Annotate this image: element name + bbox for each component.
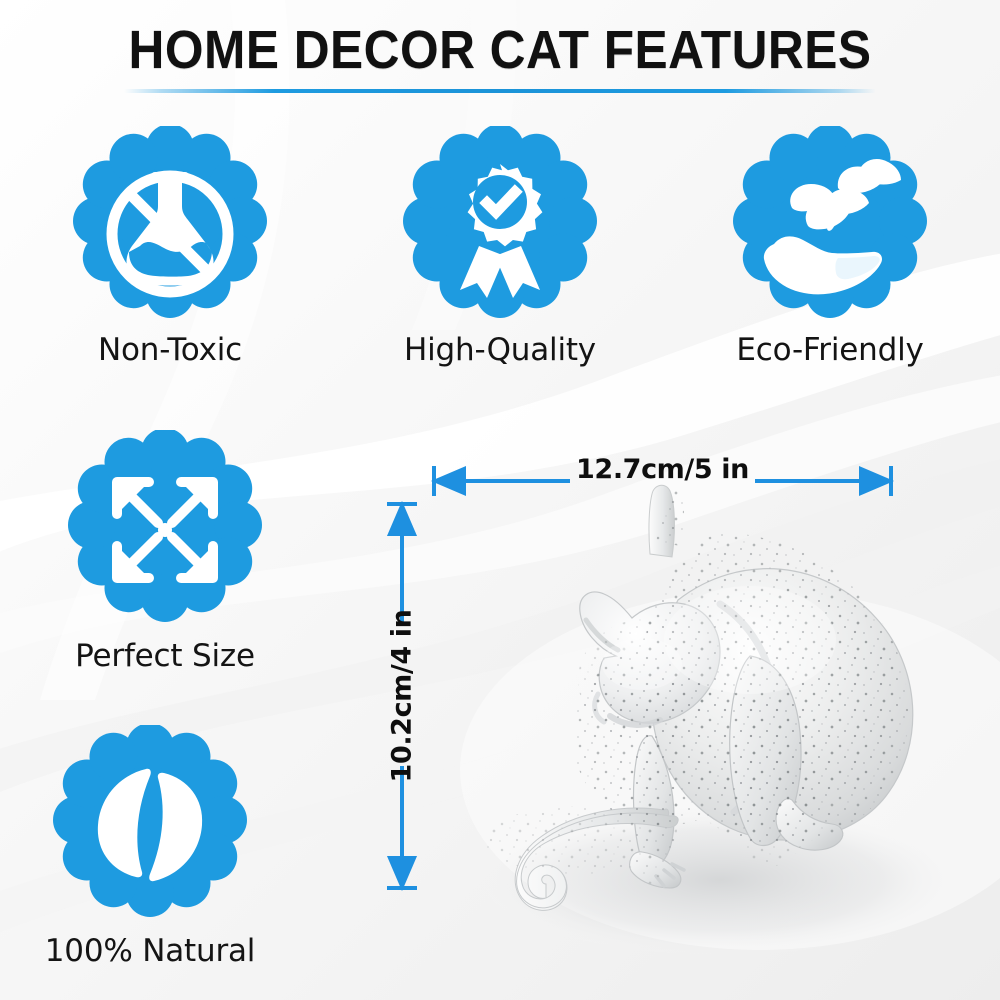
feature-item-100-natural[interactable]: 100% Natural [25, 725, 275, 969]
dimension-height-label: 10.2cm/4 in [387, 610, 418, 783]
feature-label: Eco-Friendly [705, 332, 955, 368]
expand-arrows-icon [65, 430, 265, 630]
no-toxic-flask-icon [70, 126, 270, 326]
feature-label: 100% Natural [25, 933, 275, 969]
page-title-block: HOME DECOR CAT FEATURES [0, 22, 1000, 93]
product-photo-cat-statue [420, 480, 1000, 1000]
product-feature-infographic: HOME DECOR CAT FEATURES [0, 0, 1000, 1000]
feature-label: Perfect Size [40, 638, 290, 674]
two-leaves-icon [50, 725, 250, 925]
page-title: HOME DECOR CAT FEATURES [40, 22, 960, 78]
feature-label: Non-Toxic [45, 332, 295, 368]
hand-holding-leaf-icon [730, 126, 930, 326]
title-underline-rule [124, 89, 876, 93]
feature-item-eco-friendly[interactable]: Eco-Friendly [705, 126, 955, 368]
feature-label: High-Quality [375, 332, 625, 368]
feature-item-perfect-size[interactable]: Perfect Size [40, 430, 290, 674]
dimension-width-annotation: 12.7cm/5 in [430, 448, 895, 508]
feature-item-non-toxic[interactable]: Non-Toxic [45, 126, 295, 368]
feature-item-high-quality[interactable]: High-Quality [375, 126, 625, 368]
award-ribbon-check-icon [400, 126, 600, 326]
dimension-width-label: 12.7cm/5 in [430, 454, 895, 485]
dimension-height-annotation: 10.2cm/4 in [372, 500, 432, 892]
